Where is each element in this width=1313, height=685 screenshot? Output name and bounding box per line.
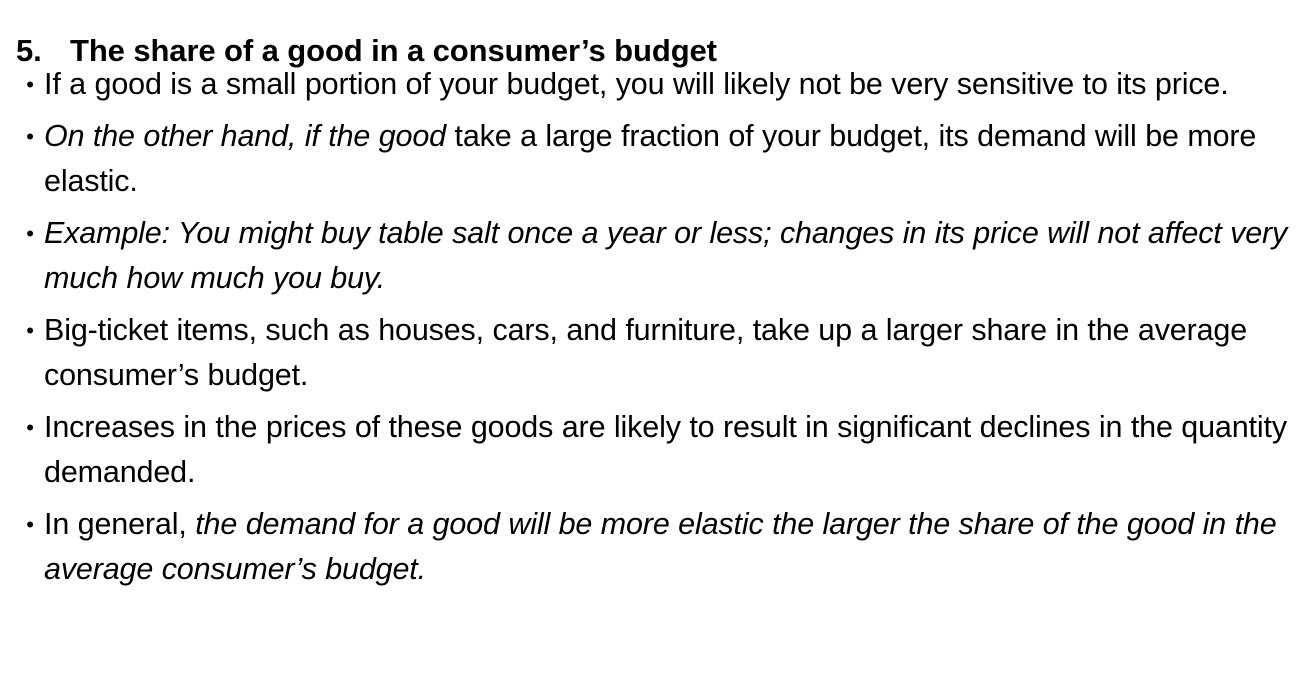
plain-text: Big-ticket items, such as houses, cars, … [44, 313, 1247, 392]
list-item-text: Example: You might buy table salt once a… [44, 216, 1287, 295]
list-item: •Increases in the prices of these goods … [16, 405, 1308, 495]
list-item: •Big-ticket items, such as houses, cars,… [16, 308, 1308, 398]
list-item-text: If a good is a small portion of your bud… [44, 67, 1229, 101]
bullet-list: •If a good is a small portion of your bu… [16, 62, 1308, 599]
list-item: •In general, the demand for a good will … [16, 502, 1308, 592]
plain-text: In general, [44, 507, 195, 541]
emphasis-text: Example: You might buy table salt once a… [44, 216, 1287, 295]
list-item-text: In general, the demand for a good will b… [44, 507, 1277, 586]
list-item: •If a good is a small portion of your bu… [16, 62, 1308, 107]
list-item: •Example: You might buy table salt once … [16, 211, 1308, 301]
emphasis-text: On the other hand, if the good [44, 119, 446, 153]
list-item: •On the other hand, if the good take a l… [16, 114, 1308, 204]
bullet-dot-icon: • [22, 114, 38, 159]
bullet-dot-icon: • [22, 62, 38, 107]
list-item-text: Increases in the prices of these goods a… [44, 410, 1287, 489]
list-item-text: On the other hand, if the good take a la… [44, 119, 1256, 198]
list-item-text: Big-ticket items, such as houses, cars, … [44, 313, 1247, 392]
bullet-dot-icon: • [22, 308, 38, 353]
bullet-dot-icon: • [22, 405, 38, 450]
bullet-dot-icon: • [22, 502, 38, 547]
bullet-dot-icon: • [22, 211, 38, 256]
emphasis-text: the demand for a good will be more elast… [44, 507, 1277, 586]
slide-canvas: 5.The share of a good in a consumer’s bu… [0, 0, 1313, 685]
plain-text: If a good is a small portion of your bud… [44, 67, 1229, 101]
plain-text: Increases in the prices of these goods a… [44, 410, 1287, 489]
